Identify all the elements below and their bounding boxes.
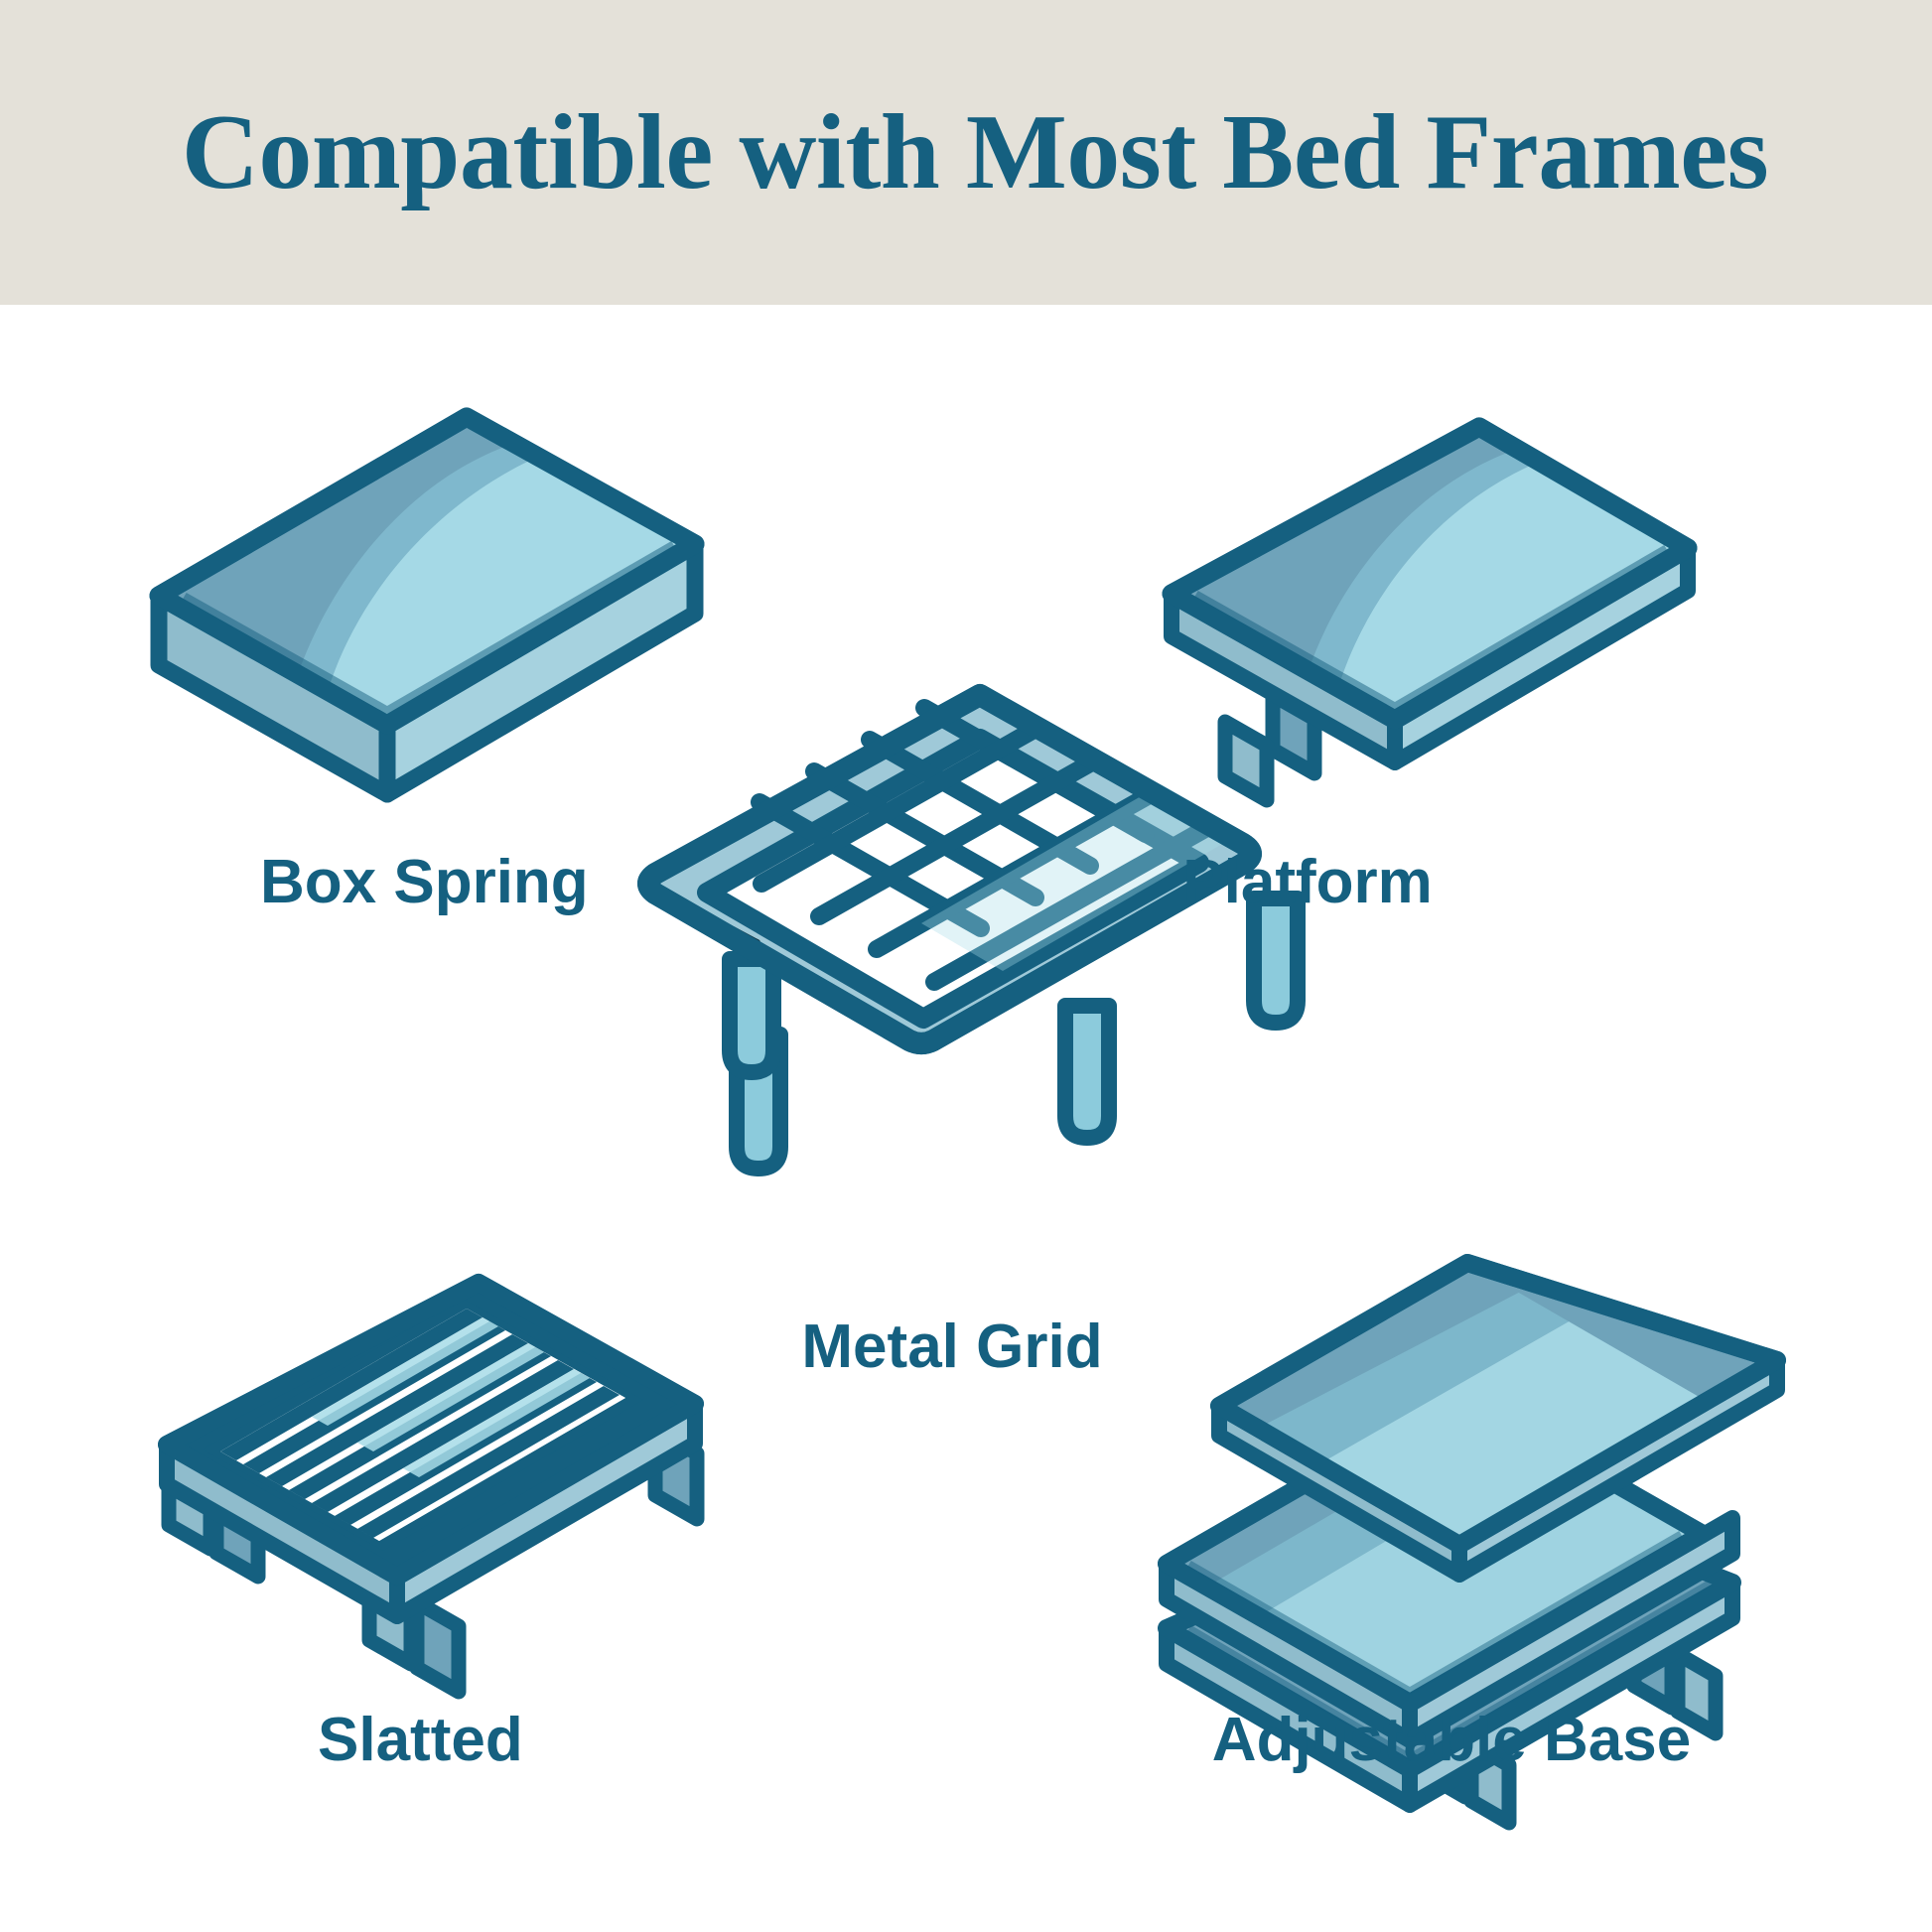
adjustable-leg-right — [1634, 1628, 1672, 1708]
adjustable-middle-top — [1167, 1395, 1703, 1703]
slatted-leg-left-inner — [216, 1487, 258, 1577]
adjustable-head-side-right — [1459, 1360, 1777, 1575]
metal-grid-frame-outline — [648, 695, 1251, 1043]
infographic-page: Compatible with Most Bed Frames — [0, 0, 1932, 1932]
label-slatted: Slatted — [318, 1710, 523, 1771]
slatted-deck — [167, 1283, 695, 1577]
box-spring-inset-line — [185, 544, 673, 710]
metal-grid-bars-b — [761, 728, 1210, 982]
metal-grid-leg-right-back — [1254, 898, 1298, 1023]
adjustable-inset-middle — [1189, 1534, 1681, 1691]
platform-top — [1172, 427, 1688, 720]
slatted-leg-front-inner — [417, 1602, 459, 1692]
metal-grid-leg-front — [737, 1035, 780, 1169]
box-spring-top — [159, 417, 695, 725]
adjustable-head-side-left — [1219, 1406, 1459, 1575]
slatted-leg-left — [169, 1459, 210, 1549]
metal-grid-leg-right-front — [1065, 1006, 1109, 1138]
platform-side-right — [1395, 548, 1688, 762]
platform-top-outline — [1172, 427, 1688, 720]
slatted-illustration — [167, 1283, 697, 1692]
slatted-side-left — [167, 1445, 397, 1616]
adjustable-head-top — [1219, 1263, 1777, 1545]
header-band: Compatible with Most Bed Frames — [0, 0, 1932, 305]
slatted-deck-outline — [167, 1283, 695, 1577]
label-box-spring: Box Spring — [260, 852, 589, 913]
slatted-slats — [220, 1309, 625, 1541]
platform-side-left — [1172, 594, 1395, 762]
label-platform: Platform — [1182, 852, 1432, 913]
metal-grid-frame-inner — [707, 739, 1199, 1019]
platform-gloss — [1309, 427, 1688, 720]
slatted-side-right — [397, 1404, 695, 1616]
platform-leg-front — [1273, 695, 1314, 773]
platform-illustration — [1172, 427, 1688, 800]
platform-inset-line — [1196, 548, 1666, 706]
platform-leg-front-inner — [1225, 722, 1267, 800]
metal-grid-corner-nub — [724, 925, 761, 957]
platform-leg-right — [1457, 616, 1499, 695]
label-adjustable-base: Adjustable Base — [1212, 1710, 1691, 1771]
metal-grid-bars-a — [759, 708, 1146, 928]
adjustable-head-gloss — [1259, 1285, 1777, 1545]
box-spring-illustration — [159, 417, 695, 794]
box-spring-side-left — [159, 596, 387, 794]
adjustable-head-outline — [1219, 1263, 1777, 1545]
metal-grid-illustration — [648, 695, 1298, 1169]
metal-grid-leg-left — [730, 959, 773, 1072]
metal-grid-frame-outer — [648, 695, 1251, 1043]
box-spring-side-right — [387, 544, 695, 794]
adjustable-middle-gloss — [1207, 1417, 1703, 1703]
box-spring-gloss — [298, 417, 695, 725]
platform-leg-right-inner — [1410, 643, 1451, 722]
page-title: Compatible with Most Bed Frames — [0, 0, 1932, 305]
label-metal-grid: Metal Grid — [801, 1316, 1102, 1378]
slatted-leg-right — [655, 1430, 697, 1519]
slatted-gaps — [203, 1299, 643, 1551]
slatted-leg-front — [369, 1575, 411, 1664]
box-spring-top-outline — [159, 417, 695, 725]
adjustable-middle-outline — [1167, 1395, 1703, 1703]
